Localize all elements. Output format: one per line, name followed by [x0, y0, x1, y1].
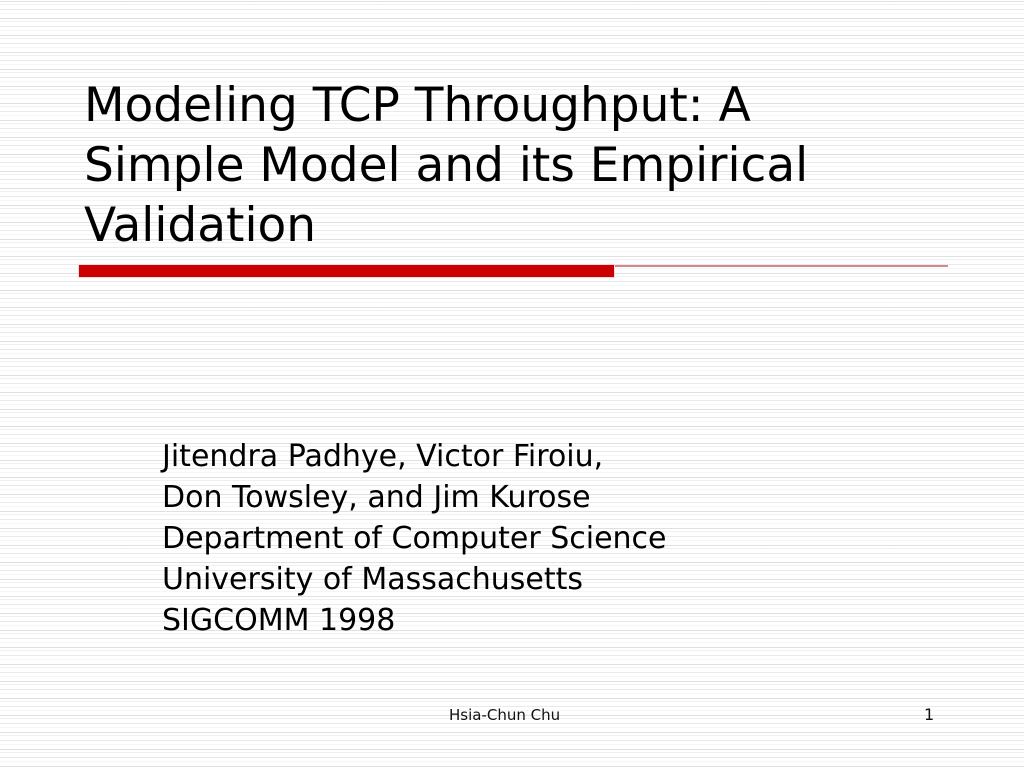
divider-accent-bar	[78, 264, 615, 278]
author-line-1: Jitendra Padhye, Victor Firoiu,	[162, 436, 922, 477]
author-line-4: University of Massachusetts	[162, 559, 922, 600]
author-line-2: Don Towsley, and Jim Kurose	[162, 477, 922, 518]
footer-page-number: 1	[924, 704, 934, 726]
title-divider	[78, 258, 950, 282]
title-line-1: Modeling TCP Throughput: A	[84, 76, 954, 136]
title-line-3: Validation	[84, 196, 954, 256]
author-affiliation-block: Jitendra Padhye, Victor Firoiu, Don Tows…	[162, 436, 922, 641]
author-line-5: SIGCOMM 1998	[162, 600, 922, 641]
title-line-2: Simple Model and its Empirical	[84, 136, 954, 196]
footer-presenter-name: Hsia-Chun Chu	[449, 704, 560, 726]
presentation-slide: Modeling TCP Throughput: A Simple Model …	[0, 0, 1024, 768]
author-line-3: Department of Computer Science	[162, 518, 922, 559]
slide-footer: Hsia-Chun Chu 1	[0, 704, 1024, 730]
slide-title: Modeling TCP Throughput: A Simple Model …	[84, 76, 954, 256]
